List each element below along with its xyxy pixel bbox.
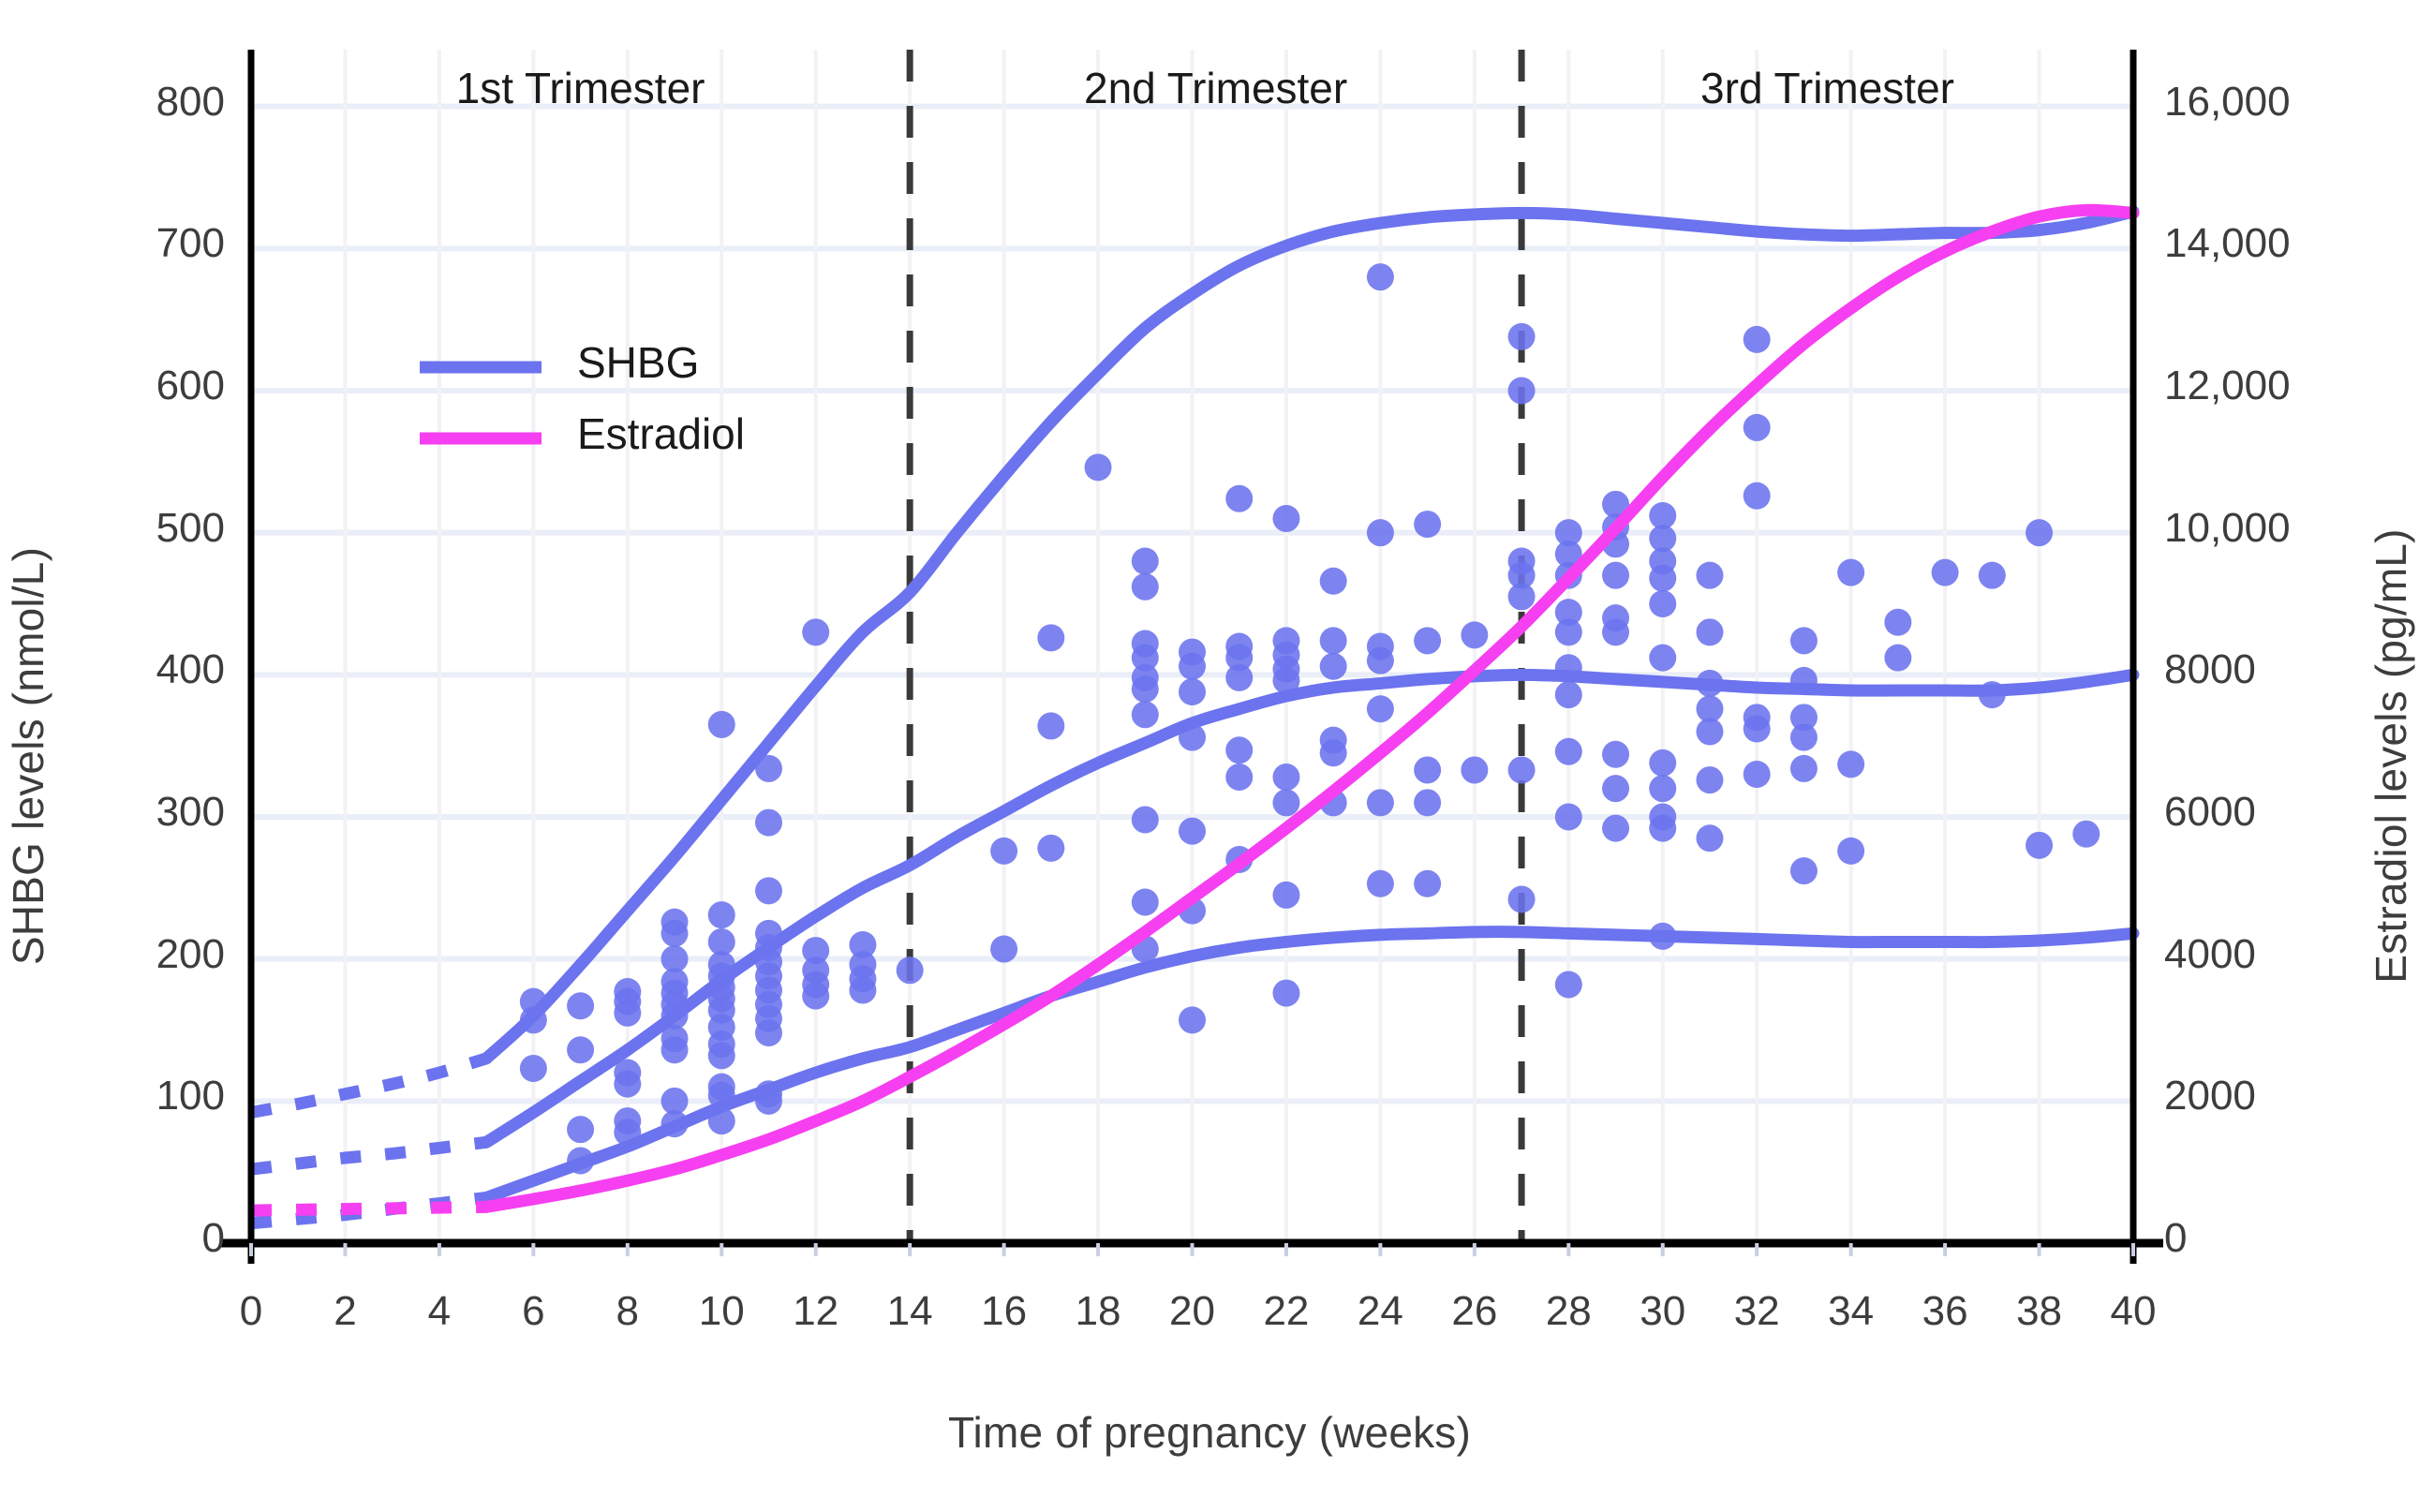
scatter-point (1837, 838, 1864, 865)
scatter-point (1884, 609, 1911, 636)
scatter-point (1744, 761, 1771, 788)
trend-curve (486, 212, 2133, 1059)
scatter-point (520, 1055, 547, 1082)
scatter-point (2072, 821, 2100, 848)
scatter-point (802, 983, 829, 1010)
scatter-point (1790, 627, 1818, 654)
scatter-point (1696, 766, 1723, 793)
scatter-point (1272, 763, 1299, 791)
scatter-point (1132, 807, 1159, 834)
trend-curve-extrapolated (251, 1142, 486, 1169)
scatter-point (1649, 749, 1676, 777)
scatter-point (1132, 701, 1159, 728)
y-axis-right-tick-label: 12,000 (2164, 363, 2380, 409)
trimester-label: 2nd Trimester (935, 63, 1497, 113)
scatter-point (1790, 755, 1818, 782)
scatter-point (708, 901, 735, 928)
y-axis-left-tick-label: 600 (56, 363, 225, 409)
scatter-point (1179, 678, 1206, 705)
scatter-point (802, 618, 829, 645)
scatter-point (755, 877, 782, 904)
y-axis-right-tick-label: 10,000 (2164, 505, 2380, 552)
scatter-point (755, 1019, 782, 1046)
scatter-point (1414, 511, 1441, 538)
scatter-point (1179, 1006, 1206, 1033)
scatter-point (614, 1000, 641, 1027)
scatter-point (708, 711, 735, 738)
y-axis-right-tick-label: 4000 (2164, 931, 2380, 978)
scatter-point (1744, 414, 1771, 441)
scatter-point (1367, 870, 1394, 897)
y-axis-left-tick-label: 800 (56, 79, 225, 126)
scatter-point (1602, 741, 1629, 768)
scatter-point (1320, 739, 1347, 766)
y-axis-left-tick-label: 300 (56, 789, 225, 836)
scatter-point (708, 1042, 735, 1069)
y-axis-left-title: SHBG levels (nmol/L) (0, 0, 56, 1512)
scatter-point (897, 956, 924, 984)
y-axis-right-tick-label: 16,000 (2164, 79, 2380, 126)
scatter-points (520, 263, 2100, 1174)
scatter-point (1508, 323, 1536, 350)
scatter-point (1461, 756, 1488, 783)
trimester-label: 1st Trimester (300, 63, 862, 113)
scatter-point (1649, 590, 1676, 617)
y-axis-right-tick-label: 0 (2164, 1215, 2380, 1262)
scatter-point (1744, 326, 1771, 353)
scatter-point (567, 1036, 594, 1063)
scatter-point (1696, 562, 1723, 589)
scatter-point (1602, 618, 1629, 645)
trend-curve-extrapolated (251, 1207, 486, 1210)
scatter-point (1272, 505, 1299, 532)
scatter-point (1790, 857, 1818, 884)
scatter-point (1602, 815, 1629, 842)
scatter-point (1696, 719, 1723, 746)
scatter-point (1837, 559, 1864, 586)
scatter-point (1320, 627, 1347, 654)
y-axis-left-tick-label: 100 (56, 1073, 225, 1119)
y-axis-left-tick-label: 700 (56, 220, 225, 267)
scatter-point (1884, 645, 1911, 672)
y-axis-right-tick-label: 8000 (2164, 646, 2380, 693)
scatter-point (567, 992, 594, 1019)
scatter-point (1555, 971, 1582, 998)
scatter-point (1461, 621, 1488, 648)
scatter-point (1132, 573, 1159, 600)
chart-figure: SHBG levels (nmol/L) Estradiol levels (p… (0, 0, 2419, 1512)
scatter-point (1225, 763, 1253, 791)
scatter-point (1037, 624, 1064, 651)
scatter-point (990, 838, 1017, 865)
scatter-point (849, 977, 876, 1004)
x-axis-tick-label: 40 (2077, 1288, 2189, 1335)
legend-label-estradiol[interactable]: Estradiol (577, 408, 745, 459)
scatter-point (1225, 736, 1253, 763)
scatter-point (1696, 824, 1723, 852)
scatter-point (1555, 618, 1582, 645)
scatter-point (1649, 775, 1676, 802)
scatter-point (990, 936, 1017, 963)
y-axis-left-tick-label: 200 (56, 931, 225, 978)
scatter-point (1790, 724, 1818, 751)
scatter-point (1037, 835, 1064, 862)
scatter-point (1508, 378, 1536, 405)
scatter-point (1179, 653, 1206, 680)
scatter-point (2026, 519, 2053, 546)
scatter-point (661, 1036, 689, 1063)
scatter-point (1132, 675, 1159, 703)
trend-curve-extrapolated (251, 1059, 486, 1113)
scatter-point (1225, 485, 1253, 512)
scatter-point (567, 1116, 594, 1143)
scatter-point (1225, 664, 1253, 691)
scatter-point (1367, 519, 1394, 546)
scatter-point (1367, 647, 1394, 674)
scatter-point (1555, 738, 1582, 765)
scatter-point (1179, 818, 1206, 845)
scatter-point (1602, 775, 1629, 802)
scatter-point (1085, 453, 1112, 481)
scatter-point (1320, 653, 1347, 680)
y-axis-right-tick-label: 14,000 (2164, 220, 2380, 267)
scatter-point (1367, 263, 1394, 290)
scatter-point (1744, 715, 1771, 742)
scatter-point (755, 809, 782, 837)
scatter-point (1272, 882, 1299, 909)
scatter-point (1037, 712, 1064, 739)
scatter-point (1508, 583, 1536, 610)
scatter-point (1602, 562, 1629, 589)
chart-canvas (0, 0, 2419, 1512)
y-axis-right-tick-label: 2000 (2164, 1073, 2380, 1119)
scatter-point (1132, 889, 1159, 916)
scatter-point (1414, 627, 1441, 654)
trimester-label: 3rd Trimester (1547, 63, 2109, 113)
scatter-point (1649, 815, 1676, 842)
scatter-point (1272, 980, 1299, 1007)
legend-label-shbg[interactable]: SHBG (577, 337, 699, 388)
y-axis-left-tick-label: 0 (56, 1215, 225, 1262)
scatter-point (1555, 681, 1582, 708)
scatter-point (1367, 789, 1394, 816)
scatter-point (1649, 645, 1676, 672)
scatter-point (1367, 695, 1394, 722)
y-axis-left-tick-label: 500 (56, 505, 225, 552)
scatter-point (1979, 562, 2006, 589)
scatter-point (1272, 789, 1299, 816)
scatter-point (1696, 618, 1723, 645)
scatter-point (1508, 885, 1536, 912)
x-axis-title: Time of pregnancy (weeks) (0, 1407, 2419, 1458)
scatter-point (1414, 789, 1441, 816)
scatter-point (1837, 750, 1864, 778)
scatter-point (1555, 804, 1582, 831)
scatter-point (1649, 565, 1676, 592)
y-axis-right-tick-label: 6000 (2164, 789, 2380, 836)
y-axis-left-tick-label: 400 (56, 646, 225, 693)
scatter-point (614, 1071, 641, 1098)
scatter-point (1414, 870, 1441, 897)
scatter-point (1320, 568, 1347, 595)
scatter-point (661, 920, 689, 947)
scatter-point (1932, 559, 1959, 586)
scatter-point (1508, 756, 1536, 783)
scatter-point (1132, 548, 1159, 575)
scatter-point (1414, 756, 1441, 783)
scatter-point (2026, 832, 2053, 859)
scatter-point (1744, 482, 1771, 510)
